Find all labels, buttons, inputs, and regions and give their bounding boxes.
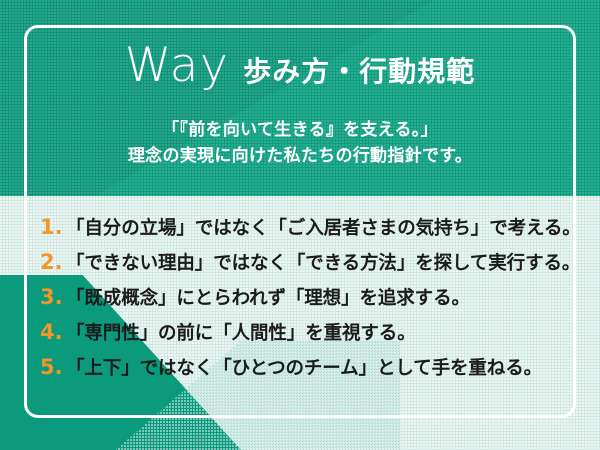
list-item: 1. 「自分の立場」ではなく「ご入居者さまの気持ち」で考える。 [40, 214, 560, 249]
tagline: 「『前を向いて生きる』を支える。」 理念の実現に向けた私たちの行動指針です。 [0, 117, 600, 170]
tagline-line-1: 「『前を向いて生きる』を支える。」 [0, 117, 600, 143]
list-item: 3. 「既成概念」にとらわれず「理想」を追求する。 [40, 284, 560, 319]
list-item-number: 1. [40, 215, 66, 239]
page-title-jp: 歩み方・行動規範 [243, 58, 475, 86]
guideline-list: 1. 「自分の立場」ではなく「ご入居者さまの気持ち」で考える。 2. 「できない… [40, 214, 560, 389]
way-poster: Way 歩み方・行動規範 「『前を向いて生きる』を支える。」 理念の実現に向けた… [0, 0, 600, 450]
tagline-line-2: 理念の実現に向けた私たちの行動指針です。 [0, 143, 600, 169]
list-item-label: 「専門性」の前に「人間性」を重視する。 [66, 319, 416, 345]
list-item-label: 「既成概念」にとらわれず「理想」を追求する。 [66, 284, 470, 310]
list-item-label: 「できない理由」ではなく「できる方法」を探して実行する。 [66, 249, 580, 275]
list-item: 2. 「できない理由」ではなく「できる方法」を探して実行する。 [40, 249, 560, 284]
list-item: 5. 「上下」ではなく「ひとつのチーム」として手を重ねる。 [40, 354, 560, 389]
page-title-en: Way [125, 42, 230, 89]
list-item-number: 2. [40, 250, 66, 274]
list-item-label: 「自分の立場」ではなく「ご入居者さまの気持ち」で考える。 [66, 214, 581, 240]
poster-header: Way 歩み方・行動規範 「『前を向いて生きる』を支える。」 理念の実現に向けた… [0, 0, 600, 196]
list-item-label: 「上下」ではなく「ひとつのチーム」として手を重ねる。 [66, 354, 542, 380]
list-item: 4. 「専門性」の前に「人間性」を重視する。 [40, 319, 560, 354]
title-row: Way 歩み方・行動規範 [0, 42, 600, 89]
list-item-number: 5. [40, 355, 66, 379]
list-item-number: 4. [40, 320, 66, 344]
list-item-number: 3. [40, 285, 66, 309]
